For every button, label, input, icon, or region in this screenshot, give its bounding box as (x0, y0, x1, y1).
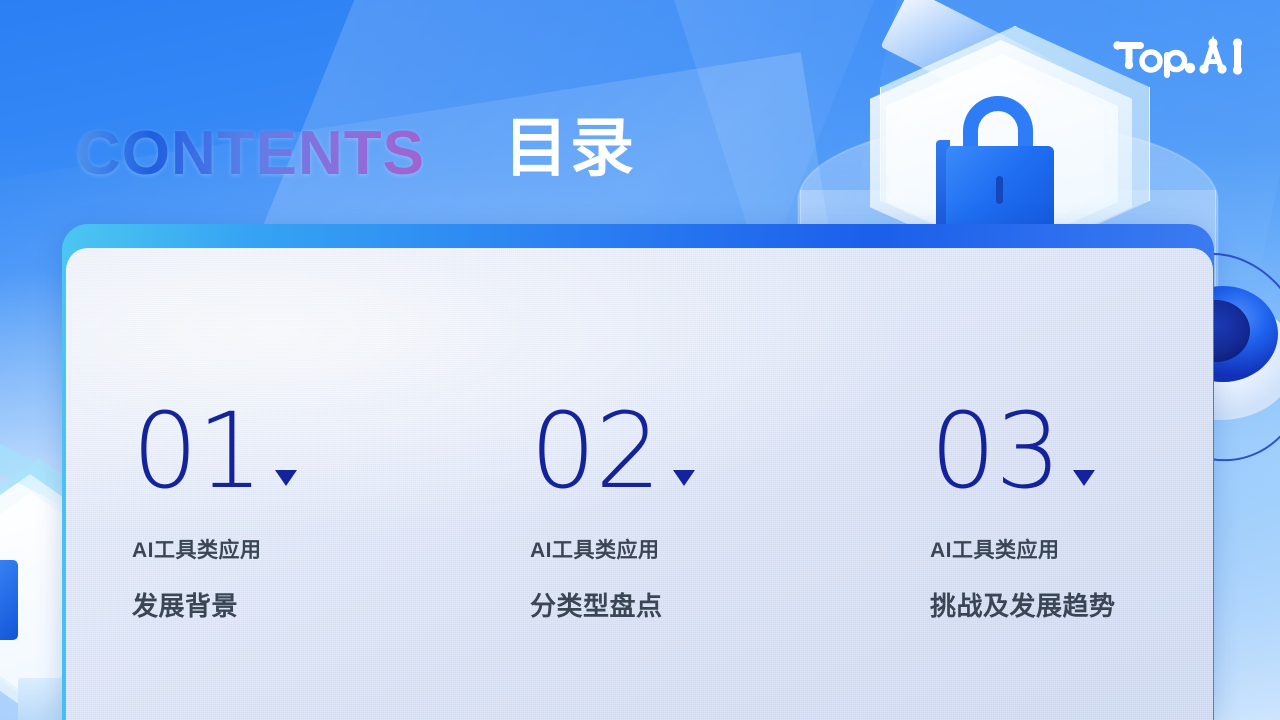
down-triangle-icon (673, 470, 695, 486)
toc-subtitle-line1: AI工具类应用 (132, 534, 532, 564)
toc-item-02[interactable]: 02 AI工具类应用 分类型盘点 (530, 388, 930, 623)
toc-item-03[interactable]: 03 AI工具类应用 挑战及发展趋势 (930, 388, 1280, 623)
toc-number: 02 (530, 404, 660, 500)
toc-number: 01 (132, 404, 262, 500)
corner-padlock-icon (0, 560, 18, 640)
contents-slide: CONTENTS 目录 (0, 0, 1280, 720)
toc-subtitle-line2: 发展背景 (132, 586, 532, 623)
padlock-icon (946, 146, 1054, 232)
toc-subtitle-line2: 分类型盘点 (530, 586, 930, 623)
toc-subtitle-line1: AI工具类应用 (930, 534, 1280, 564)
page-title-en: CONTENTS (76, 118, 425, 189)
toc-number-row: 02 (530, 388, 930, 500)
top-ai-logo-icon[interactable] (1110, 34, 1250, 86)
toc-item-01[interactable]: 01 AI工具类应用 发展背景 (132, 388, 532, 623)
toc-subtitle-line1: AI工具类应用 (530, 534, 930, 564)
toc-subtitle-line2: 挑战及发展趋势 (930, 586, 1280, 623)
toc-list: 01 AI工具类应用 发展背景 02 AI工具类应用 分类型盘点 03 AI工具… (66, 248, 1213, 720)
toc-number-row: 03 (930, 388, 1280, 500)
toc-number: 03 (930, 404, 1060, 500)
down-triangle-icon (275, 470, 297, 486)
page-title-cn: 目录 (504, 116, 636, 180)
down-triangle-icon (1073, 470, 1095, 486)
toc-number-row: 01 (132, 388, 532, 500)
